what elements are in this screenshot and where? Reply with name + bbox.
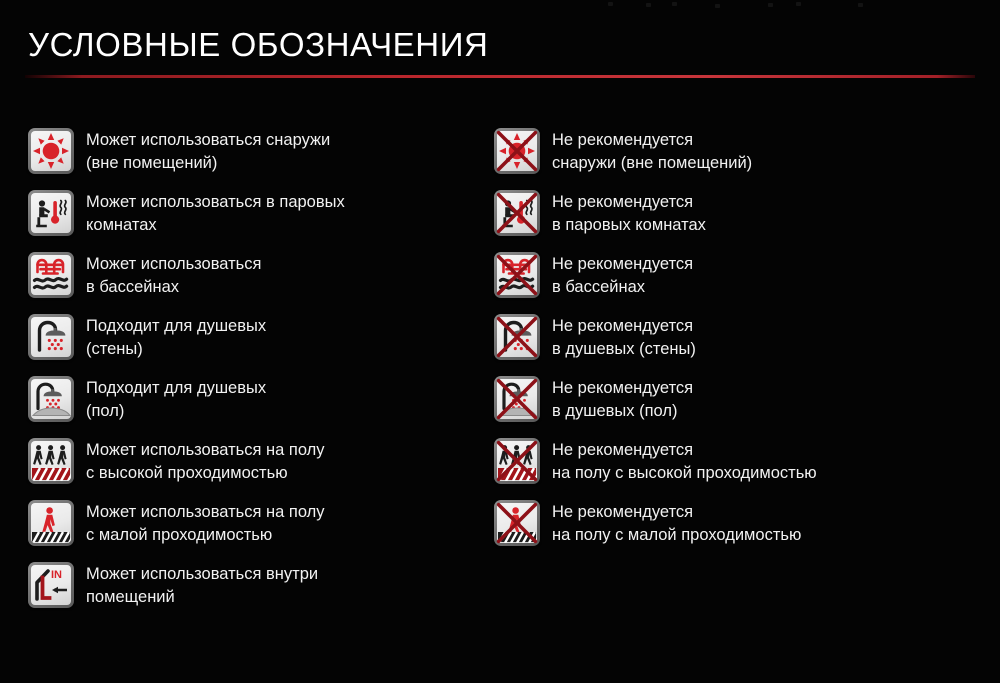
shower-floor-icon: [31, 379, 71, 419]
shower-floor-icon: [497, 379, 537, 419]
legend-item: Не рекомендуется в бассейнах: [494, 252, 964, 307]
allowed-icon-tile: [28, 128, 74, 174]
top-edge-artifacts: [600, 0, 900, 14]
legend-item-label: Не рекомендуется в паровых комнатах: [552, 190, 706, 237]
swimming-pool-icon: [497, 255, 537, 295]
legend-item: Может использоваться на полу с малой про…: [28, 500, 478, 555]
not-recommended-icon-tile: [494, 190, 540, 236]
allowed-icon-tile: [28, 314, 74, 360]
legend-item: Не рекомендуется в душевых (стены): [494, 314, 964, 369]
allowed-icon-tile: [28, 500, 74, 546]
legend-item: Может использоваться в бассейнах: [28, 252, 478, 307]
title-divider: [25, 75, 975, 78]
steam-room-icon: [497, 193, 537, 233]
allowed-icon-tile: IN: [28, 562, 74, 608]
low-traffic-floor-icon: [31, 503, 71, 543]
svg-text:IN: IN: [51, 569, 62, 581]
legend-item: IN Может использоваться внутри помещений: [28, 562, 478, 617]
legend-item: Подходит для душевых (пол): [28, 376, 478, 431]
legend-item-label: Может использоваться снаружи (вне помеще…: [86, 128, 330, 175]
not-recommended-icon-tile: [494, 500, 540, 546]
legend-item-label: Не рекомендуется в душевых (стены): [552, 314, 696, 361]
legend-item-label: Подходит для душевых (пол): [86, 376, 266, 423]
legend-item: Не рекомендуется в душевых (пол): [494, 376, 964, 431]
low-traffic-floor-icon: [497, 503, 537, 543]
legend-slide: УСЛОВНЫЕ ОБОЗНАЧЕНИЯ Может использоватьс…: [0, 0, 1000, 683]
legend-item-label: Не рекомендуется на полу с малой проходи…: [552, 500, 801, 547]
legend-item-label: Подходит для душевых (стены): [86, 314, 266, 361]
legend-item-label: Не рекомендуется на полу с высокой прохо…: [552, 438, 817, 485]
legend-item: Может использоваться в паровых комнатах: [28, 190, 478, 245]
sun-outdoor-icon: [31, 131, 71, 171]
not-recommended-icon-tile: [494, 128, 540, 174]
allowed-icon-tile: [28, 252, 74, 298]
not-recommended-icon-tile: [494, 252, 540, 298]
not-recommended-icon-tile: [494, 314, 540, 360]
legend-item-label: Не рекомендуется снаружи (вне помещений): [552, 128, 752, 175]
legend-item: Не рекомендуется на полу с малой проходи…: [494, 500, 964, 555]
high-traffic-floor-icon: [497, 441, 537, 481]
legend-item: Может использоваться на полу с высокой п…: [28, 438, 478, 493]
legend-item-label: Не рекомендуется в бассейнах: [552, 252, 693, 299]
legend-item: Не рекомендуется на полу с высокой прохо…: [494, 438, 964, 493]
legend-item-label: Может использоваться внутри помещений: [86, 562, 318, 609]
legend-column-allowed: Может использоваться снаружи (вне помеще…: [28, 128, 478, 624]
steam-room-icon: [31, 193, 71, 233]
legend-column-not-recommended: Не рекомендуется снаружи (вне помещений): [494, 128, 964, 562]
not-recommended-icon-tile: [494, 376, 540, 422]
legend-item-label: Может использоваться на полу с малой про…: [86, 500, 325, 547]
shower-wall-icon: [31, 317, 71, 357]
shower-wall-icon: [497, 317, 537, 357]
allowed-icon-tile: [28, 376, 74, 422]
legend-item: Не рекомендуется в паровых комнатах: [494, 190, 964, 245]
high-traffic-floor-icon: [31, 441, 71, 481]
sun-outdoor-icon: [497, 131, 537, 171]
swimming-pool-icon: [31, 255, 71, 295]
allowed-icon-tile: [28, 190, 74, 236]
legend-item: Может использоваться снаружи (вне помеще…: [28, 128, 478, 183]
legend-item-label: Не рекомендуется в душевых (пол): [552, 376, 693, 423]
legend-item-label: Может использоваться на полу с высокой п…: [86, 438, 325, 485]
not-recommended-icon-tile: [494, 438, 540, 484]
legend-item: Не рекомендуется снаружи (вне помещений): [494, 128, 964, 183]
page-title: УСЛОВНЫЕ ОБОЗНАЧЕНИЯ: [28, 26, 488, 64]
legend-item-label: Может использоваться в паровых комнатах: [86, 190, 345, 237]
indoor-in-icon: IN: [31, 565, 71, 605]
allowed-icon-tile: [28, 438, 74, 484]
legend-item: Подходит для душевых (стены): [28, 314, 478, 369]
legend-item-label: Может использоваться в бассейнах: [86, 252, 261, 299]
